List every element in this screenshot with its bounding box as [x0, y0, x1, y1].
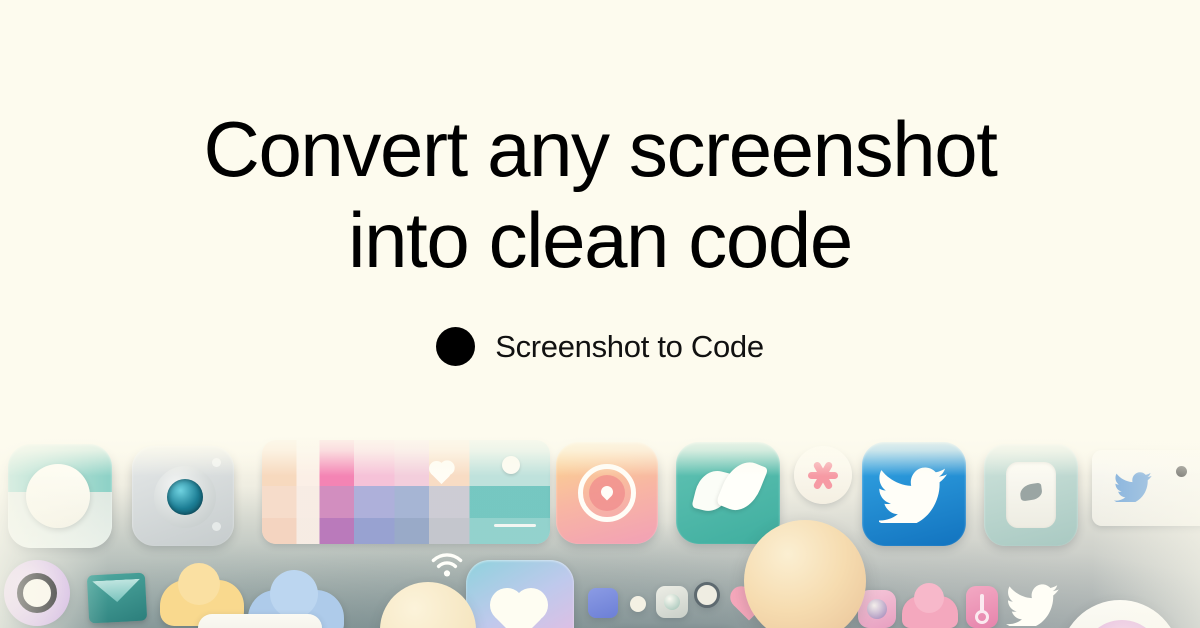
envelope-teal-icon	[87, 573, 147, 624]
page-title: Convert any screenshot into clean code	[0, 104, 1200, 286]
tag-dot-glyph	[975, 610, 989, 624]
black-circle-logo-icon	[436, 327, 475, 366]
blue-square-mini-icon	[588, 588, 618, 618]
swatch-row-2	[262, 486, 550, 518]
share-card: Convert any screenshot into clean code S…	[0, 0, 1200, 628]
swatch-line-icon	[494, 524, 536, 527]
brand-row: Screenshot to Code	[0, 327, 1200, 366]
cloud-sky-bump-glyph	[270, 570, 318, 618]
mini-ring-icon	[694, 582, 720, 608]
pink-tag-icon	[966, 586, 998, 628]
ring-lavender-icon	[4, 560, 70, 626]
mini-tile-dot-glyph	[664, 594, 680, 610]
mini-dot-icon	[630, 596, 646, 612]
strip-top-fade	[0, 432, 1200, 476]
bird-card-glyph	[1112, 472, 1156, 502]
lens-inner-glyph	[167, 479, 203, 515]
gradient-heart-tile-icon	[466, 560, 574, 628]
pink-cloud-icon	[902, 596, 958, 628]
swatch-row-3	[262, 518, 550, 544]
cloud-bump-glyph	[178, 563, 220, 605]
brand-name: Screenshot to Code	[495, 327, 764, 366]
hero-section: Convert any screenshot into clean code	[0, 104, 1200, 286]
lens-dot-2-glyph	[212, 522, 221, 531]
wifi-icon	[430, 552, 464, 583]
app-icon-collage-strip	[0, 432, 1200, 628]
envelope-flap-glyph	[92, 579, 141, 603]
white-panel-icon	[198, 614, 322, 628]
pink-camera-lens-glyph	[867, 599, 887, 619]
pink-cloud-bump-glyph	[914, 583, 944, 613]
twitter-bird-small-icon	[1006, 584, 1062, 626]
ring-inner-glyph	[17, 573, 57, 613]
tile-heart-glyph	[495, 593, 543, 628]
mini-tile-icon	[656, 586, 688, 618]
